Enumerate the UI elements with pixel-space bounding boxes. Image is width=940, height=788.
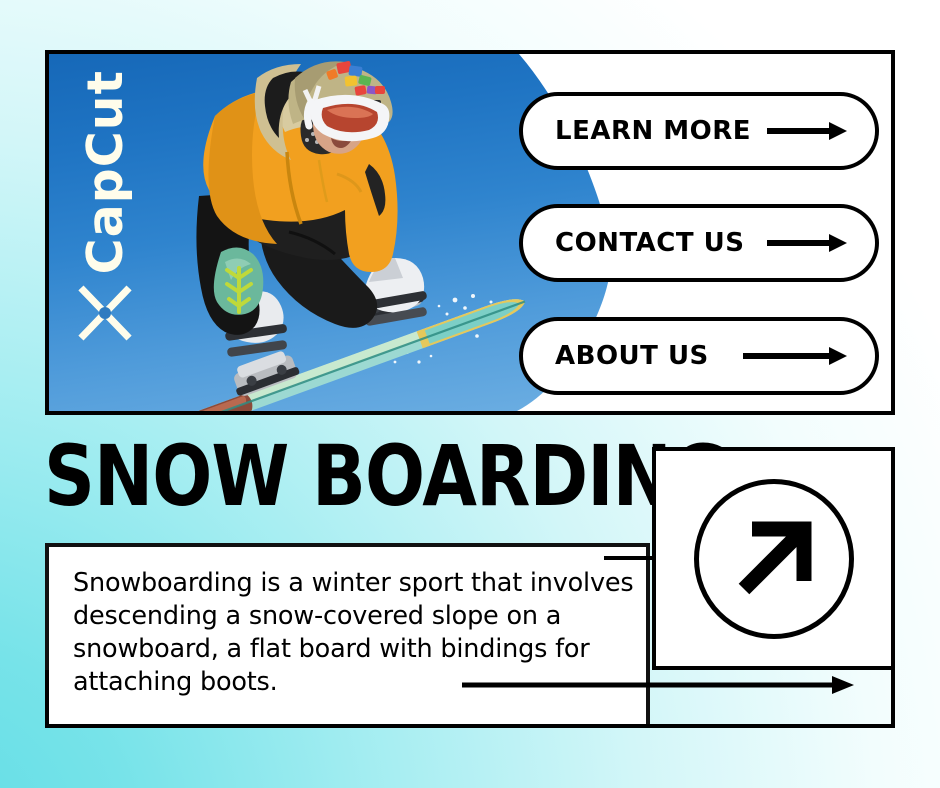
arrow-right-icon: [765, 232, 851, 254]
about-us-button[interactable]: ABOUT US: [519, 317, 879, 395]
contact-us-button[interactable]: CONTACT US: [519, 204, 879, 282]
connector-line: [604, 556, 656, 560]
learn-more-label: LEARN MORE: [555, 116, 751, 146]
learn-more-button[interactable]: LEARN MORE: [519, 92, 879, 170]
arrow-up-right-icon[interactable]: [694, 479, 854, 639]
hero-media-card: CapCut LEARN MORE CO: [45, 50, 895, 415]
about-us-label: ABOUT US: [555, 341, 709, 371]
cta-square-panel[interactable]: [652, 447, 895, 670]
snowboarder-figure-icon: [169, 56, 529, 411]
page-title: SNOW BOARDING: [44, 438, 728, 515]
long-arrow-right-icon: [460, 670, 860, 700]
arrow-right-icon: [741, 345, 851, 367]
capcut-wordmark: CapCut: [81, 70, 130, 274]
poster-canvas: CapCut LEARN MORE CO: [0, 0, 940, 788]
capcut-logo-icon: [72, 282, 138, 349]
arrow-right-icon: [765, 120, 851, 142]
capcut-watermark: CapCut: [63, 70, 147, 400]
contact-us-label: CONTACT US: [555, 228, 745, 258]
